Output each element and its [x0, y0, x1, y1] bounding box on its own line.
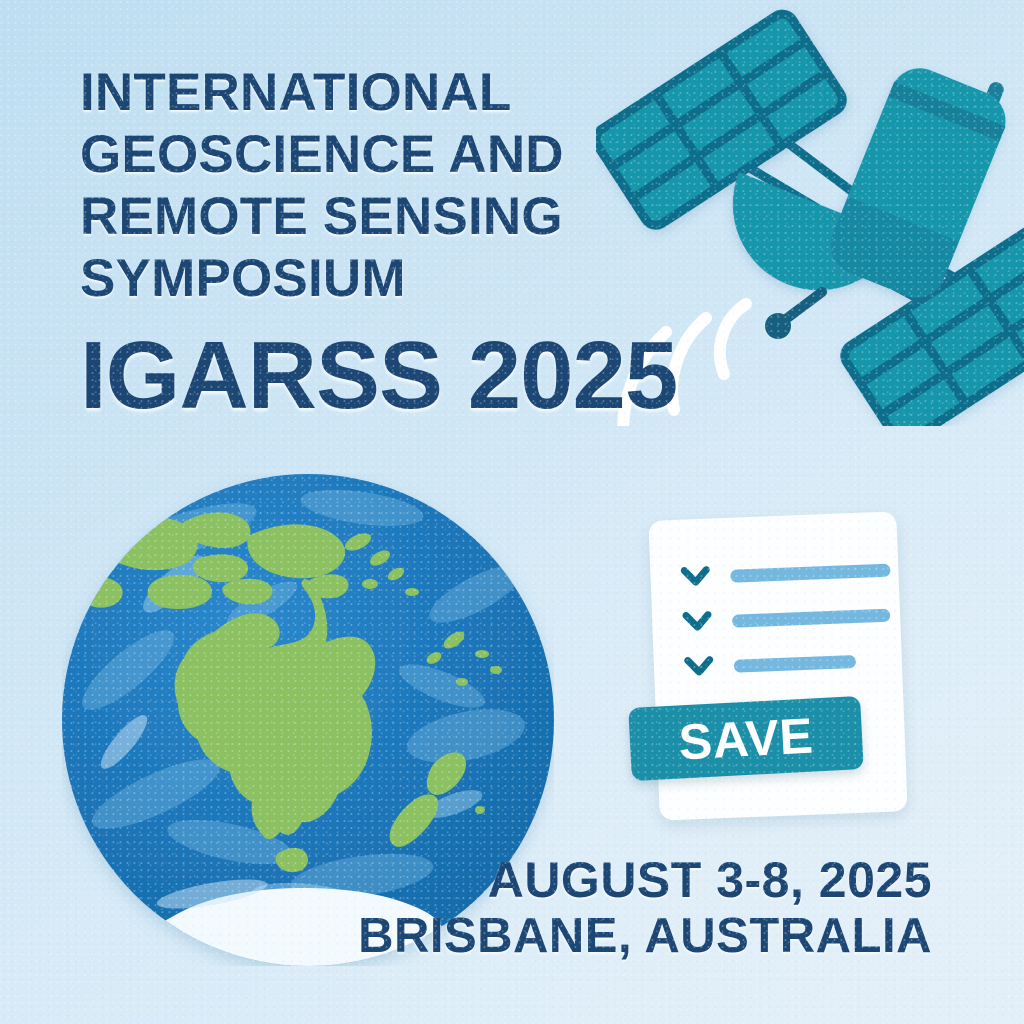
save-button-label: SAVE — [678, 710, 815, 767]
checklist-item[interactable] — [684, 649, 857, 680]
check-icon — [680, 565, 711, 590]
poster-canvas: INTERNATIONAL GEOSCIENCE AND REMOTE SENS… — [0, 0, 1024, 1024]
check-icon — [682, 610, 713, 635]
event-location: BRISBANE, AUSTRALIA — [358, 908, 932, 964]
checklist-line — [730, 563, 890, 582]
checklist-item[interactable] — [680, 558, 891, 590]
event-details: AUGUST 3-8, 2025 BRISBANE, AUSTRALIA — [358, 852, 932, 964]
checklist-item[interactable] — [682, 603, 891, 635]
heading-block: INTERNATIONAL GEOSCIENCE AND REMOTE SENS… — [80, 62, 720, 424]
checklist-line — [732, 608, 890, 627]
landmass-indonesia — [78, 512, 273, 609]
subtitle-line-1: INTERNATIONAL — [80, 62, 720, 124]
save-button[interactable]: SAVE — [628, 696, 864, 781]
event-date: AUGUST 3-8, 2025 — [358, 852, 932, 908]
page-title: IGARSS 2025 — [80, 310, 720, 424]
subtitle-line-2: GEOSCIENCE AND — [80, 124, 720, 186]
subtitle-line-3: REMOTE SENSING — [80, 186, 720, 248]
subtitle-line-4: SYMPOSIUM — [80, 248, 720, 310]
dish-feed-horn — [765, 292, 822, 339]
check-icon — [684, 654, 715, 679]
checklist-line — [734, 655, 856, 673]
